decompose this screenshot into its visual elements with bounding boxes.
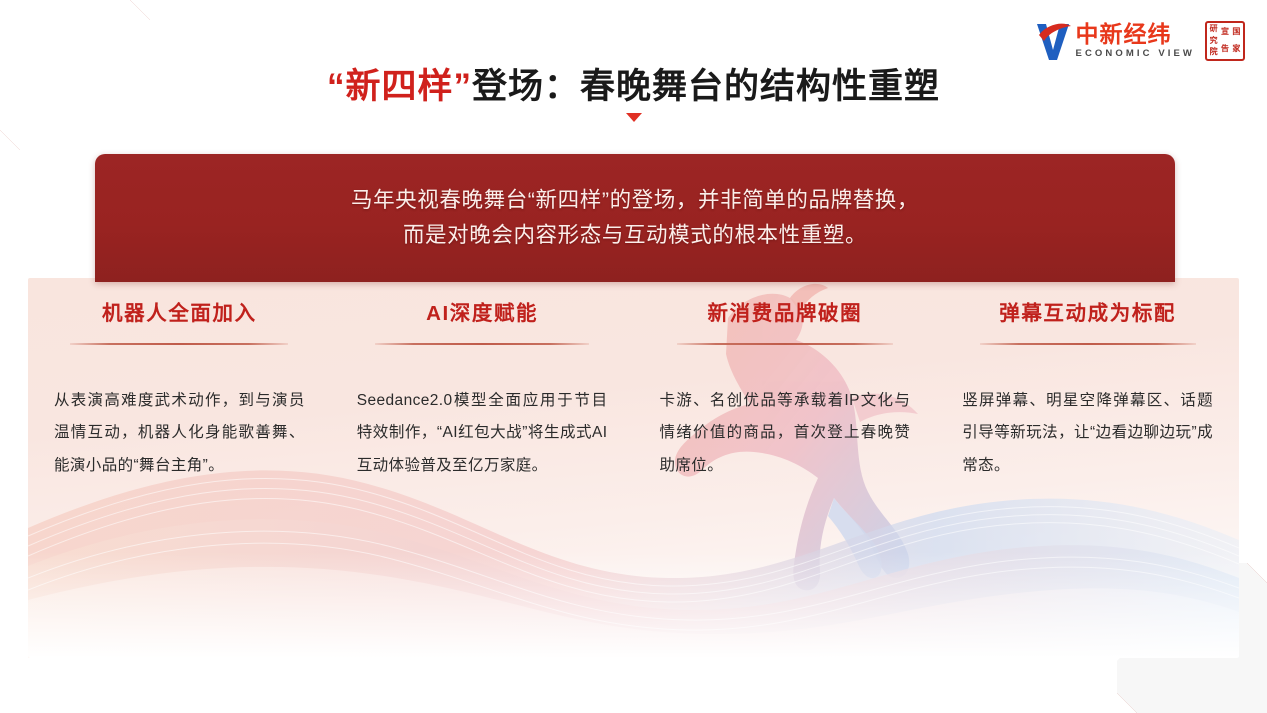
page-title-highlight: “新四样”	[327, 67, 472, 106]
feature-body-text: 竖屏弹幕、明星空降弹幕区、话题引导等新玩法，让“边看边聊边玩”成常态。	[962, 385, 1213, 483]
feature-column-robots: 机器人全面加入 从表演高难度武术动作，到与演员温情互动，机器人化身能歌善舞、能演…	[28, 290, 331, 530]
seal-char: 院	[1210, 48, 1218, 56]
feature-columns: 机器人全面加入 从表演高难度武术动作，到与演员温情互动，机器人化身能歌善舞、能演…	[28, 290, 1239, 530]
heading-underline	[375, 343, 589, 345]
slide-canvas: 中新经纬 ECONOMIC VIEW 研 究 院 宣 告 国 家 “新四样”登场…	[0, 0, 1267, 713]
research-institute-seal-icon: 研 究 院 宣 告 国 家	[1205, 21, 1245, 61]
feature-column-danmu: 弹幕互动成为标配 竖屏弹幕、明星空降弹幕区、话题引导等新玩法，让“边看边聊边玩”…	[936, 290, 1239, 530]
seal-column: 研 究 院	[1208, 24, 1219, 58]
seal-char: 家	[1232, 45, 1240, 53]
seal-char: 研	[1210, 25, 1218, 33]
summary-banner: 马年央视春晚舞台“新四样”的登场，并非简单的品牌替换， 而是对晚会内容形态与互动…	[95, 154, 1175, 282]
logo-text-block: 中新经纬 ECONOMIC VIEW	[1076, 23, 1195, 59]
feature-column-brands: 新消费品牌破圈 卡游、名创优品等承载着IP文化与情绪价值的商品，首次登上春晚赞助…	[634, 290, 937, 530]
feature-heading: 弹幕互动成为标配	[962, 290, 1213, 327]
heading-underline	[677, 343, 893, 345]
feature-body-text: 卡游、名创优品等承载着IP文化与情绪价值的商品，首次登上春晚赞助席位。	[660, 385, 911, 483]
feature-body-text: 从表演高难度武术动作，到与演员温情互动，机器人化身能歌善舞、能演小品的“舞台主角…	[54, 385, 305, 483]
logo-chinese-name: 中新经纬	[1076, 23, 1195, 46]
seal-column: 国 家	[1231, 24, 1242, 58]
heading-underline	[980, 343, 1196, 345]
seal-char: 告	[1221, 45, 1229, 53]
page-title: “新四样”登场：春晚舞台的结构性重塑	[0, 58, 1267, 109]
logo-lockup: 中新经纬 ECONOMIC VIEW	[1033, 20, 1195, 62]
seal-column: 宣 告	[1219, 24, 1230, 58]
feature-heading: AI深度赋能	[357, 290, 608, 327]
banner-line-1: 马年央视春晚舞台“新四样”的登场，并非简单的品牌替换，	[351, 183, 919, 218]
seal-char: 宣	[1221, 28, 1229, 36]
brand-logo[interactable]: 中新经纬 ECONOMIC VIEW 研 究 院 宣 告 国 家	[1033, 20, 1245, 62]
seal-char: 究	[1210, 37, 1218, 45]
seal-char: 国	[1232, 28, 1240, 36]
economic-view-mark-icon	[1033, 20, 1073, 62]
heading-underline	[70, 343, 288, 345]
title-caret-icon	[626, 113, 642, 122]
page-title-rest: 登场：春晚舞台的结构性重塑	[472, 67, 940, 106]
feature-heading: 新消费品牌破圈	[660, 290, 911, 327]
feature-heading: 机器人全面加入	[54, 290, 305, 327]
feature-body-text: Seedance2.0模型全面应用于节目特效制作，“AI红包大战”将生成式AI互…	[357, 385, 608, 483]
banner-line-2: 而是对晚会内容形态与互动模式的根本性重塑。	[403, 218, 867, 253]
feature-column-ai: AI深度赋能 Seedance2.0模型全面应用于节目特效制作，“AI红包大战”…	[331, 290, 634, 530]
